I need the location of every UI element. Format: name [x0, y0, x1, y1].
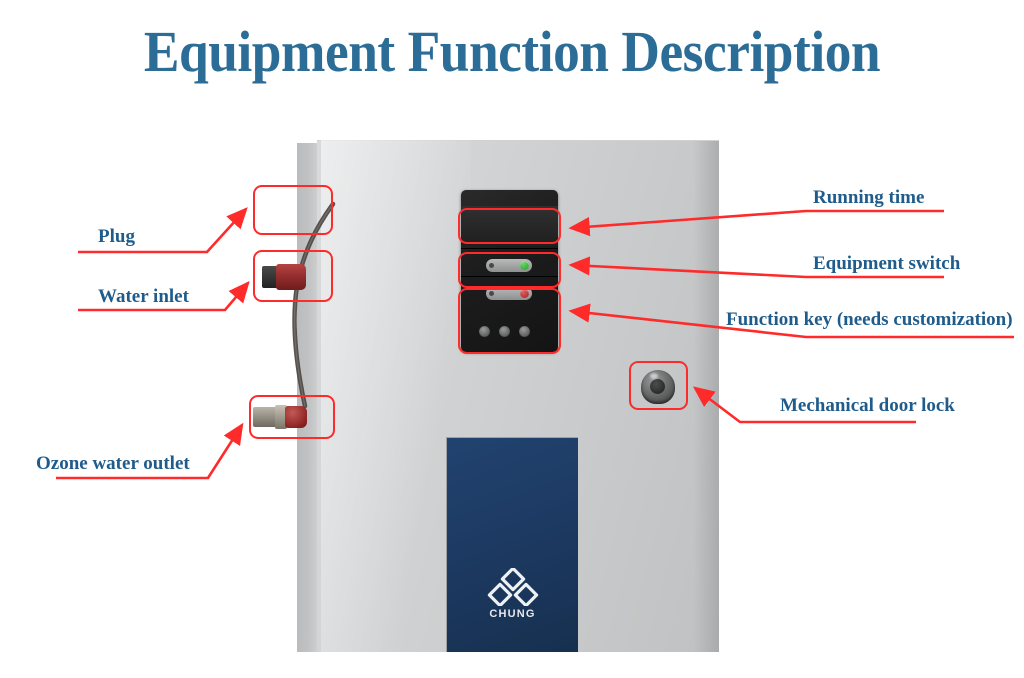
highlight-box-equipment-switch — [458, 252, 561, 288]
brand-panel: CHUNG — [446, 437, 578, 652]
callout-label-water-inlet: Water inlet — [98, 287, 189, 306]
slide-canvas: Equipment Function Description — [0, 0, 1024, 678]
page-title: Equipment Function Description — [41, 22, 983, 83]
brand-logo: CHUNG — [447, 568, 578, 620]
highlight-box-function-key — [458, 288, 561, 354]
callout-label-running-time: Running time — [813, 188, 924, 207]
callout-label-plug: Plug — [98, 227, 135, 246]
callout-label-ozone-outlet: Ozone water outlet — [36, 454, 190, 473]
highlight-box-plug — [253, 185, 333, 235]
panel-divider-1 — [461, 248, 558, 249]
callout-label-door-lock: Mechanical door lock — [780, 396, 955, 415]
callout-label-function-key: Function key (needs customization) — [726, 310, 1013, 329]
highlight-box-running-time — [458, 208, 561, 244]
highlight-box-door-lock — [629, 361, 688, 410]
chung-diamond-logo-icon — [487, 568, 539, 606]
callout-label-equipment-switch: Equipment switch — [813, 254, 960, 273]
brand-name: CHUNG — [489, 608, 535, 620]
highlight-box-water-inlet — [253, 250, 333, 302]
highlight-box-ozone-outlet — [249, 395, 335, 439]
